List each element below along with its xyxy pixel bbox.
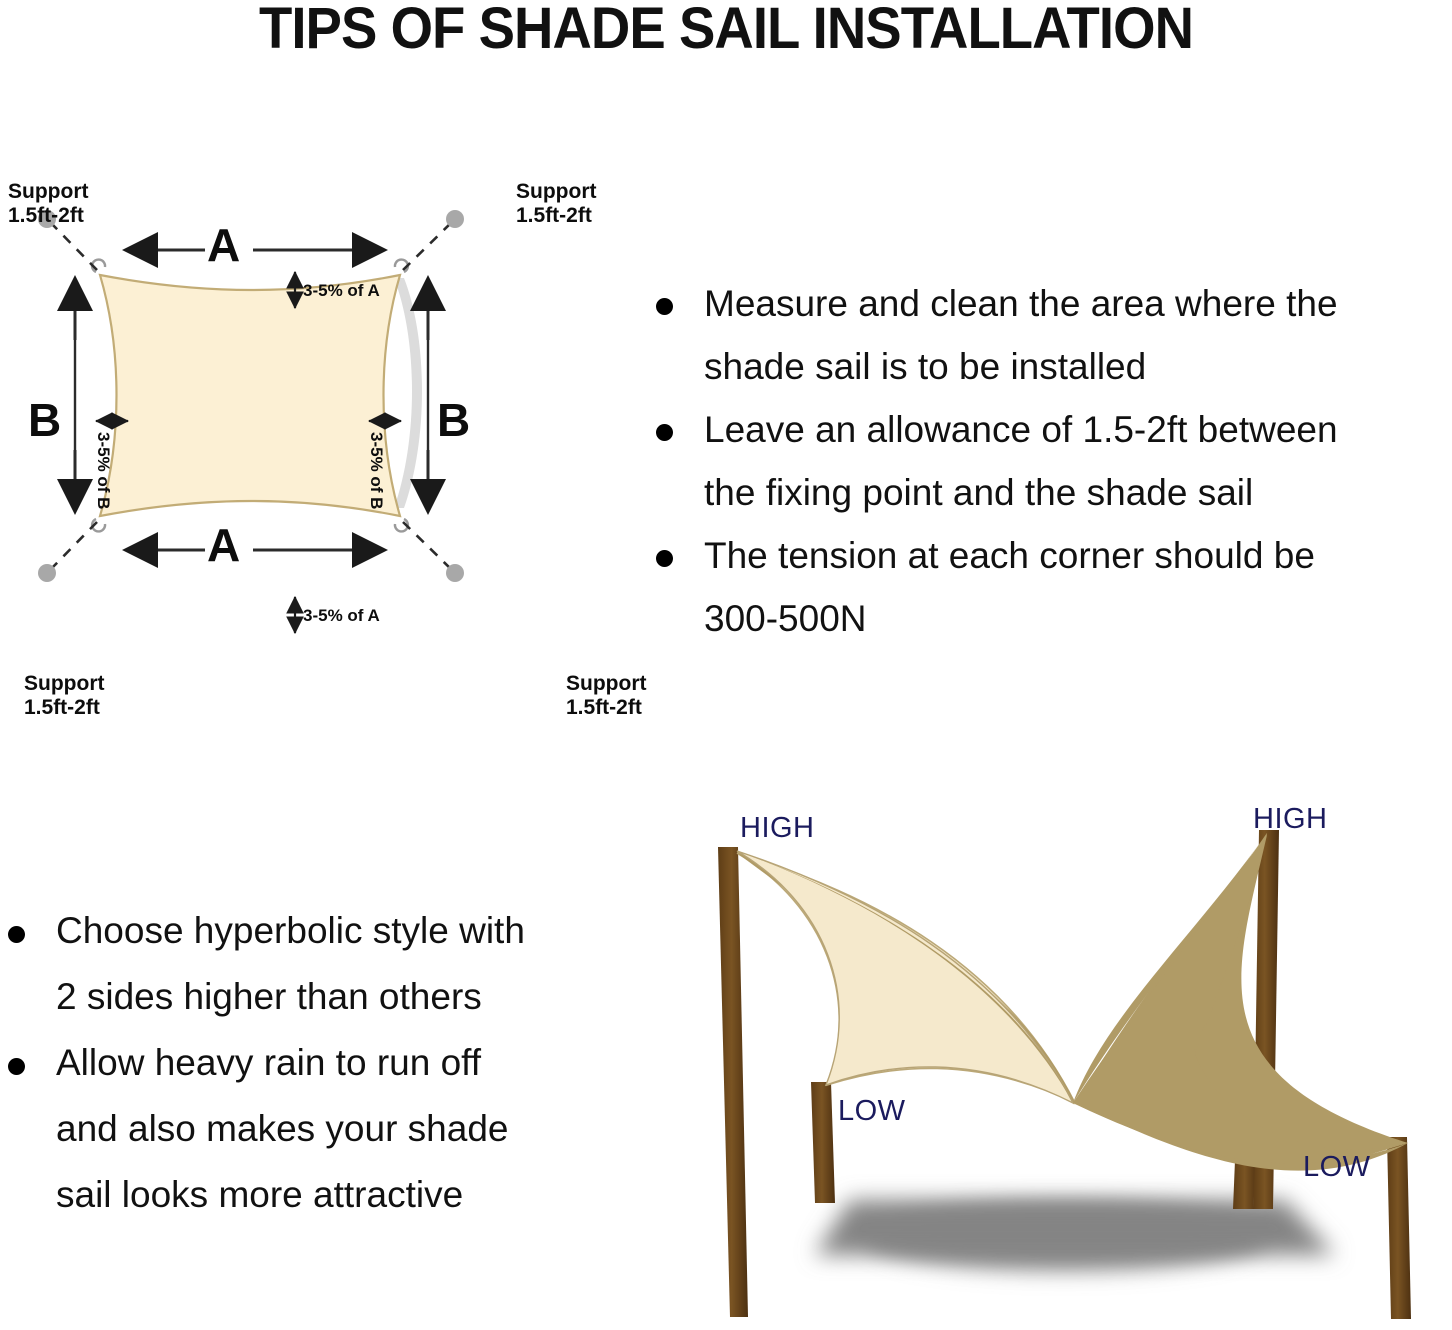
dimension-label-A-top: A (207, 222, 240, 268)
sail-edge-shadow (394, 278, 422, 508)
tolerance-label-right: 3-5% of B (368, 432, 385, 509)
support-label-bottom-right: Support 1.5ft-2ft (566, 672, 646, 720)
tip-line: the fixing point and the shade sail (704, 472, 1253, 513)
tip-line: sail looks more attractive (56, 1174, 463, 1215)
tip-line: and also makes your shade (56, 1108, 509, 1149)
support-label-top-right: Support 1.5ft-2ft (516, 180, 596, 228)
sail-body (100, 275, 400, 516)
label-high-left: HIGH (740, 812, 815, 845)
tip-line: 300-500N (704, 598, 867, 639)
tolerance-label-top: 3-5% of A (303, 282, 380, 299)
tip-line: Leave an allowance of 1.5-2ft between (704, 409, 1338, 450)
bullet-dot-icon (8, 1058, 25, 1075)
support-label-top-left: Support 1.5ft-2ft (8, 180, 88, 228)
sail-dimension-diagram: A A B B 3-5% of A 3-5% of A 3-5% of B 3-… (0, 160, 660, 740)
label-high-right: HIGH (1253, 803, 1328, 836)
support-label-line1: Support (8, 180, 88, 203)
support-label-line2: 1.5ft-2ft (8, 204, 84, 227)
tolerance-label-bottom: 3-5% of A (303, 607, 380, 624)
support-label-line1: Support (24, 672, 104, 695)
label-low-right: LOW (1303, 1151, 1371, 1184)
tip-line: 2 sides higher than others (56, 976, 482, 1017)
support-label-bottom-left: Support 1.5ft-2ft (24, 672, 104, 720)
bullet-dot-icon (656, 424, 673, 441)
dimension-label-B-left: B (28, 397, 61, 443)
support-label-line2: 1.5ft-2ft (566, 696, 642, 719)
dimension-label-B-right: B (437, 397, 470, 443)
page-title: TIPS OF SHADE SAIL INSTALLATION (44, 0, 1409, 60)
list-item: Choose hyperbolic style with 2 sides hig… (0, 898, 630, 1030)
hyperbolic-tips-list: Choose hyperbolic style with 2 sides hig… (0, 898, 630, 1228)
bullet-dot-icon (656, 298, 673, 315)
list-item: Leave an allowance of 1.5-2ft between th… (648, 398, 1452, 524)
hyperbolic-sail-graphic (675, 785, 1452, 1325)
tip-line: Choose hyperbolic style with (56, 910, 525, 951)
support-label-line2: 1.5ft-2ft (24, 696, 100, 719)
tip-line: Measure and clean the area where the (704, 283, 1338, 324)
post-low-left (811, 1082, 835, 1203)
tolerance-label-left: 3-5% of B (95, 432, 112, 509)
post-high-left (718, 847, 748, 1317)
list-item: Allow heavy rain to run off and also mak… (0, 1030, 630, 1228)
tip-line: Allow heavy rain to run off (56, 1042, 481, 1083)
list-item: Measure and clean the area where the sha… (648, 272, 1452, 398)
list-item: The tension at each corner should be 300… (648, 524, 1452, 650)
bullet-dot-icon (8, 926, 25, 943)
dimension-label-A-bottom: A (207, 522, 240, 568)
support-label-line1: Support (516, 180, 596, 203)
post-low-right (1387, 1137, 1411, 1319)
installation-tips-list: Measure and clean the area where the sha… (648, 272, 1452, 650)
label-low-left: LOW (838, 1095, 906, 1128)
hyperbolic-sail-illustration: HIGH HIGH LOW LOW (675, 785, 1452, 1325)
support-label-line2: 1.5ft-2ft (516, 204, 592, 227)
tip-line: The tension at each corner should be (704, 535, 1315, 576)
bullet-dot-icon (656, 550, 673, 567)
support-label-line1: Support (566, 672, 646, 695)
tip-line: shade sail is to be installed (704, 346, 1146, 387)
